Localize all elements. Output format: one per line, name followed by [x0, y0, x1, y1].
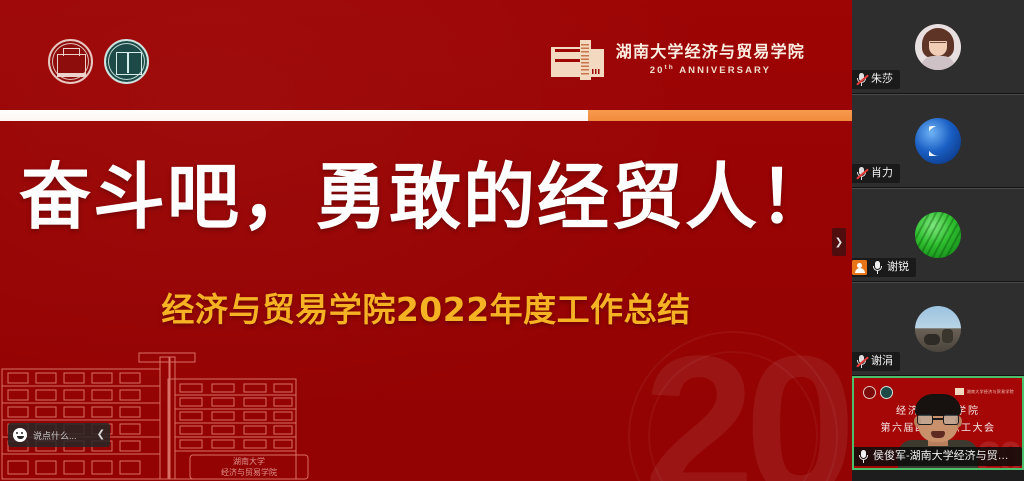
shared-slide[interactable]: 20 湖南大学经济与贸易学院 20th ANNIVERSARY: [0, 0, 852, 481]
chevron-left-icon[interactable]: ❮: [97, 430, 105, 440]
twenty-blocks-mark-icon: [551, 40, 603, 80]
anniversary-logo-text: 湖南大学经济与贸易学院 20th ANNIVERSARY: [616, 45, 805, 76]
participant-name: 谢涓: [871, 354, 893, 369]
participant-tile[interactable]: 朱莎: [852, 0, 1024, 94]
participant-video-rail[interactable]: 朱莎 肖力: [852, 0, 1024, 481]
anniversary-number: 20: [650, 65, 665, 76]
participant-tile[interactable]: 肖力: [852, 94, 1024, 188]
building-sign-line-1: 湖南大学: [233, 456, 265, 466]
slide-main-title: 奋斗吧，勇敢的经贸人！: [0, 160, 852, 236]
smiley-face-icon[interactable]: [13, 428, 27, 442]
eyeglasses-icon: [917, 414, 959, 425]
host-badge-icon: [852, 260, 867, 275]
building-sign-line-2: 经济与贸易学院: [221, 467, 277, 477]
video-background-seals: [863, 386, 893, 399]
participant-tile[interactable]: 谢涓: [852, 282, 1024, 376]
microphone-muted-icon: [856, 355, 867, 368]
participant-nametag: 谢锐: [852, 258, 916, 277]
anniversary-word: ANNIVERSARY: [679, 65, 771, 76]
meeting-screen: 20 湖南大学经济与贸易学院 20th ANNIVERSARY: [0, 0, 1024, 481]
chat-input-bar[interactable]: 说点什么... ❮: [8, 423, 110, 447]
microphone-icon: [872, 261, 883, 274]
microphone-muted-icon: [856, 73, 867, 86]
header-divider-stripe: [0, 110, 852, 121]
participant-tile[interactable]: 谢锐: [852, 188, 1024, 282]
active-speaker-tile[interactable]: 湖南大学经济与贸易学院 经济与贸易学院 第六届四次教职工大会 20: [852, 376, 1024, 470]
hnu-university-seal-icon: [863, 386, 876, 399]
stripe-white-segment: [0, 110, 588, 121]
microphone-muted-icon: [856, 167, 867, 180]
participant-nametag: 侯俊军-湖南大学经济与贸易学...: [854, 447, 1022, 466]
participant-nametag: 谢涓: [852, 352, 900, 371]
chat-input-placeholder[interactable]: 说点什么...: [33, 429, 91, 442]
anniversary-ordinal: th: [664, 64, 674, 71]
participant-nametag: 肖力: [852, 164, 900, 183]
participant-name: 谢锐: [887, 260, 909, 275]
anniversary-logo: 湖南大学经济与贸易学院 20th ANNIVERSARY: [551, 40, 805, 80]
avatar: [915, 212, 961, 258]
anniversary-english-line: 20th ANNIVERSARY: [650, 65, 771, 76]
institution-name: 湖南大学经济与贸易学院: [616, 45, 805, 61]
participant-name: 侯俊军-湖南大学经济与贸易学...: [873, 449, 1015, 464]
anniversary-watermark: 20: [644, 327, 846, 481]
chevron-right-icon: ❯: [835, 237, 843, 248]
header-seals: [48, 39, 149, 84]
hnu-university-seal-icon: [48, 39, 93, 84]
avatar: [915, 118, 961, 164]
building-illustration: 湖南大学 经济与贸易学院: [0, 351, 330, 481]
participant-name: 肖力: [871, 166, 893, 181]
participant-nametag: 朱莎: [852, 70, 900, 89]
avatar: [915, 24, 961, 70]
panel-collapse-toggle[interactable]: ❯: [832, 228, 846, 256]
avatar: [915, 306, 961, 352]
economics-trade-school-seal-icon: [104, 39, 149, 84]
microphone-icon: [858, 450, 869, 463]
stripe-orange-segment: [588, 110, 852, 121]
participant-name: 朱莎: [871, 72, 893, 87]
slide-subtitle: 经济与贸易学院2022年度工作总结: [0, 283, 852, 331]
